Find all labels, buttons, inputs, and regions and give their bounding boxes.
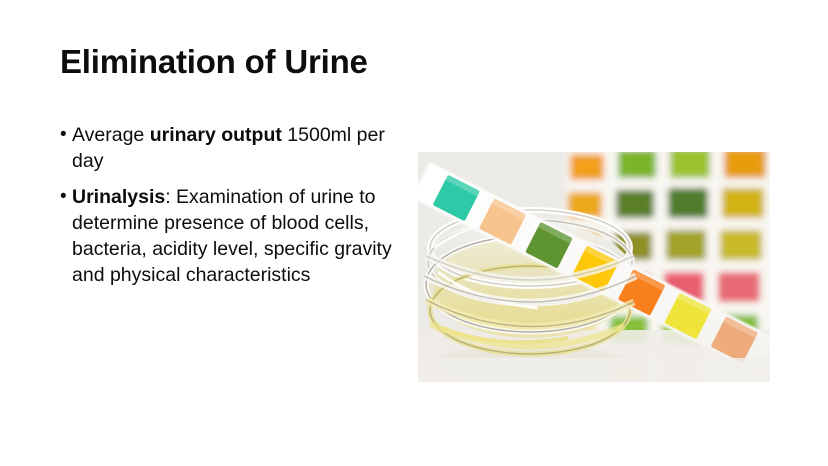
list-item: • Average urinary output 1500ml per day — [60, 122, 400, 174]
photo-bottom-fade — [418, 358, 770, 382]
slide-body-bullet-list: • Average urinary output 1500ml per day … — [60, 122, 400, 288]
bullet-marker-icon: • — [60, 122, 72, 148]
bullet-text: Average urinary output 1500ml per day — [72, 122, 400, 174]
bullet-marker-icon: • — [60, 184, 72, 210]
list-item: • Urinalysis: Examination of urine to de… — [60, 184, 400, 288]
presentation-slide: Elimination of Urine • Average urinary o… — [0, 0, 828, 466]
bullet-segment-bold: urinary output — [150, 124, 282, 146]
bullet-segment-plain: Average — [72, 124, 150, 146]
photo-illustration — [418, 152, 770, 382]
urinalysis-test-strip-photo — [418, 152, 770, 382]
slide-title: Elimination of Urine — [60, 43, 760, 81]
bullet-text: Urinalysis: Examination of urine to dete… — [72, 184, 400, 288]
bullet-segment-bold: Urinalysis — [72, 186, 165, 208]
